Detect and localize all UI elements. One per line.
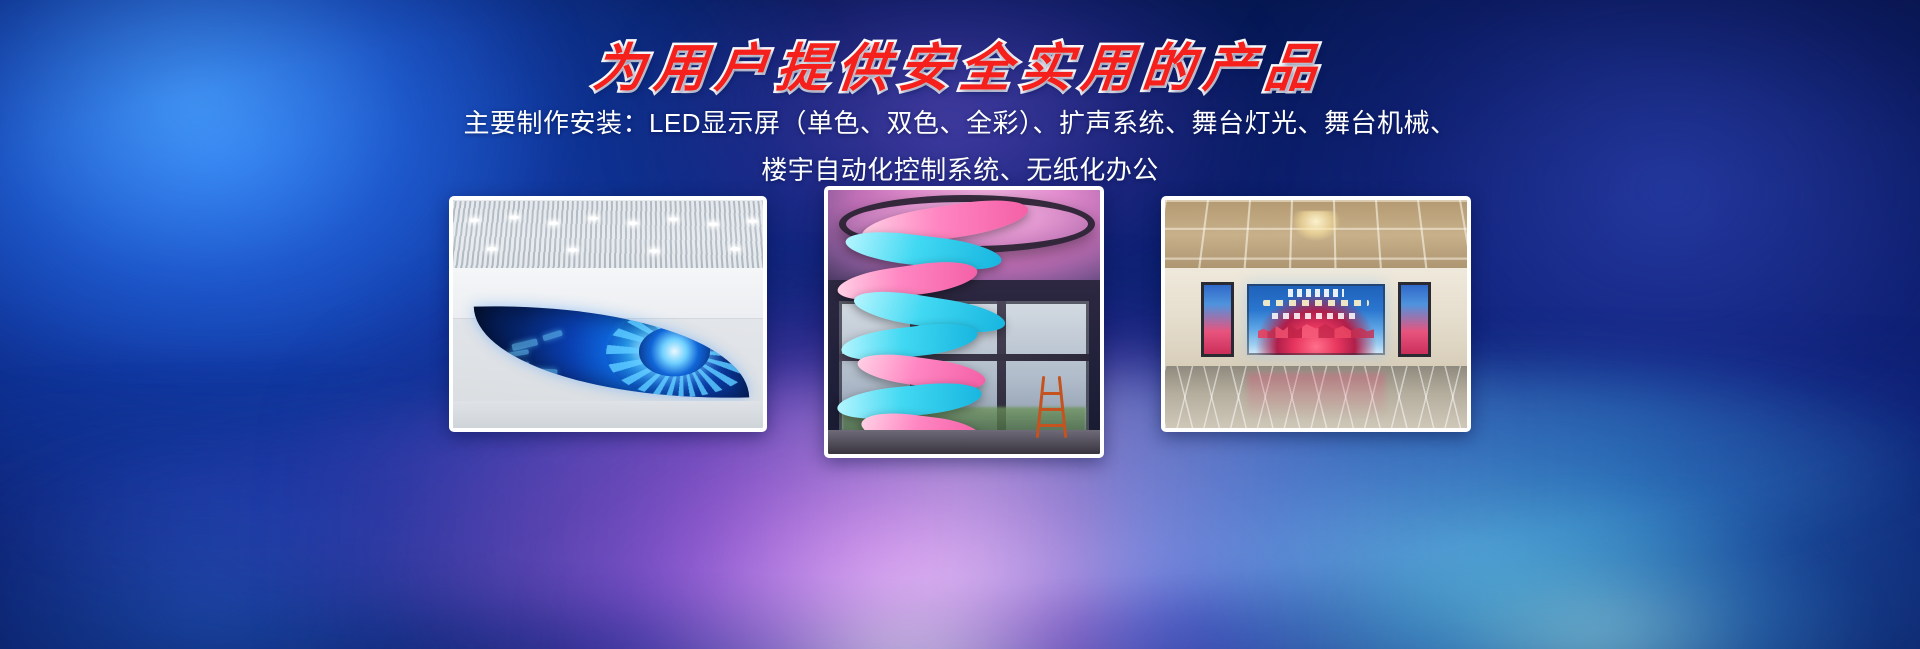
photo3-main-led-screen: [1247, 284, 1386, 355]
photo3-side-screen-right: [1398, 282, 1431, 357]
subtitle-block: 主要制作安装：LED显示屏（单色、双色、全彩）、扩声系统、舞台灯光、舞台机械、 …: [0, 100, 1920, 194]
photo-card-2[interactable]: [824, 186, 1104, 458]
photo1-floor: [453, 401, 763, 428]
photo-card-1[interactable]: [449, 196, 767, 432]
headline-container: 为用户提供安全实用的产品: [0, 26, 1920, 101]
photo2-spiral-led-ribbon: [833, 201, 1029, 454]
photo2-step-ladder: [1037, 376, 1067, 438]
photo3-screen-skyline-graphic: [1258, 321, 1375, 338]
photo-spiral-led-column: [828, 190, 1100, 454]
photo-eye-shaped-led-screen: [453, 200, 763, 428]
photo3-floor-reflection: [1247, 373, 1386, 419]
photo1-eye-light-bars: [479, 320, 623, 396]
photo3-chandelier: [1292, 211, 1340, 241]
photo-gallery: [0, 196, 1920, 458]
photo3-screen-headline-text: [1263, 300, 1369, 306]
photo1-slatted-ceiling: [453, 201, 763, 271]
subtitle-line-1: 主要制作安装：LED显示屏（单色、双色、全彩）、扩声系统、舞台灯光、舞台机械、: [0, 100, 1920, 147]
photo-card-3[interactable]: [1161, 196, 1471, 432]
photo3-screen-logo: [1288, 289, 1344, 297]
photo3-side-screen-left: [1201, 282, 1234, 357]
photo1-ceiling-lights: [453, 201, 763, 269]
page-title: 为用户提供安全实用的产品: [590, 26, 1330, 101]
photo-banquet-hall-led-screen: [1165, 200, 1467, 428]
photo3-screen-subtext: [1272, 313, 1361, 319]
banner-stage: 为用户提供安全实用的产品 主要制作安装：LED显示屏（单色、双色、全彩）、扩声系…: [0, 0, 1920, 649]
